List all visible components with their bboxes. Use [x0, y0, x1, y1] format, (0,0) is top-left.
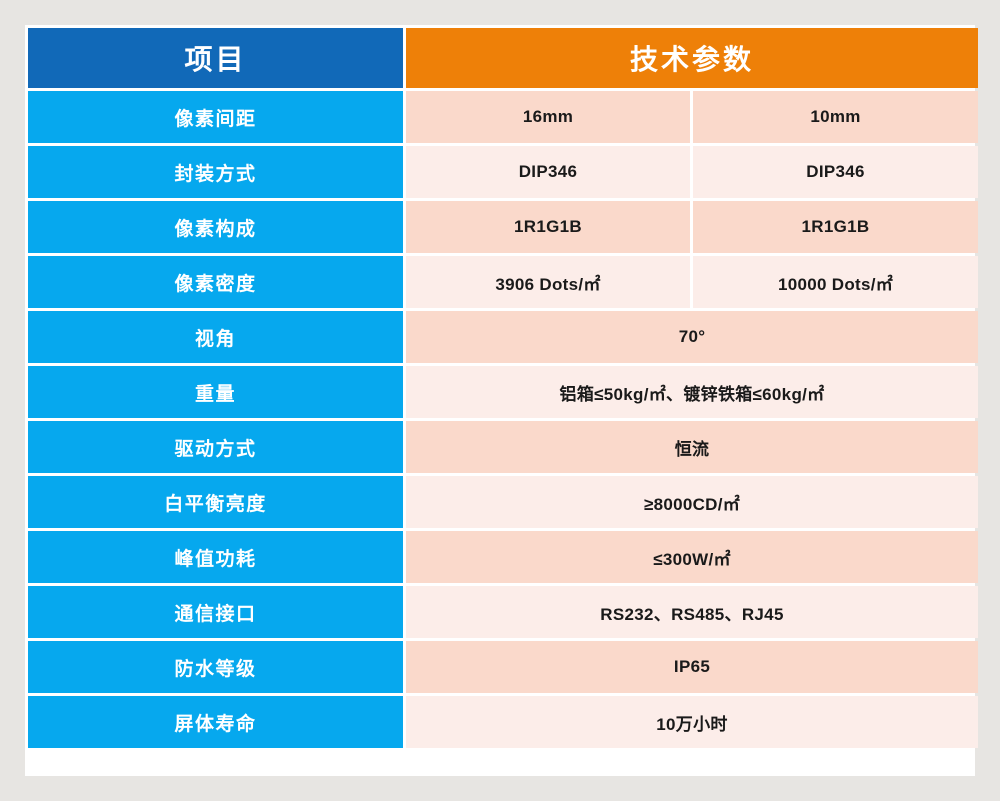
- row-label-11: 屏体寿命: [28, 696, 403, 748]
- header-cell-parameters: 技术参数: [406, 28, 978, 88]
- table-row: 防水等级IP65: [28, 641, 978, 693]
- row-value-b-2: 1R1G1B: [693, 201, 978, 253]
- row-label-5: 重量: [28, 366, 403, 418]
- row-value-b-1: DIP346: [693, 146, 978, 198]
- row-value-b-3: 10000 Dots/㎡: [693, 256, 978, 308]
- row-value-8: ≤300W/㎡: [406, 531, 978, 583]
- row-label-9: 通信接口: [28, 586, 403, 638]
- row-value-10: IP65: [406, 641, 978, 693]
- row-value-b-0: 10mm: [693, 91, 978, 143]
- row-value-a-2: 1R1G1B: [406, 201, 690, 253]
- specification-table: 项目 技术参数 像素间距16mm10mm封装方式DIP346DIP346像素构成…: [25, 25, 981, 751]
- row-value-a-1: DIP346: [406, 146, 690, 198]
- row-label-4: 视角: [28, 311, 403, 363]
- row-label-8: 峰值功耗: [28, 531, 403, 583]
- header-cell-item: 项目: [28, 28, 403, 88]
- row-value-4: 70°: [406, 311, 978, 363]
- row-label-7: 白平衡亮度: [28, 476, 403, 528]
- table-row: 封装方式DIP346DIP346: [28, 146, 978, 198]
- row-value-11: 10万小时: [406, 696, 978, 748]
- row-value-a-0: 16mm: [406, 91, 690, 143]
- table-row: 峰值功耗≤300W/㎡: [28, 531, 978, 583]
- header-row: 项目 技术参数: [28, 28, 978, 88]
- table-row: 重量铝箱≤50kg/㎡、镀锌铁箱≤60kg/㎡: [28, 366, 978, 418]
- table-row: 屏体寿命10万小时: [28, 696, 978, 748]
- row-label-6: 驱动方式: [28, 421, 403, 473]
- table-row: 驱动方式恒流: [28, 421, 978, 473]
- row-value-a-3: 3906 Dots/㎡: [406, 256, 690, 308]
- table-row: 像素构成1R1G1B1R1G1B: [28, 201, 978, 253]
- table-row: 视角70°: [28, 311, 978, 363]
- spec-table-container: 项目 技术参数 像素间距16mm10mm封装方式DIP346DIP346像素构成…: [25, 25, 975, 776]
- row-label-1: 封装方式: [28, 146, 403, 198]
- table-header: 项目 技术参数: [28, 28, 978, 88]
- row-value-9: RS232、RS485、RJ45: [406, 586, 978, 638]
- row-value-6: 恒流: [406, 421, 978, 473]
- row-label-3: 像素密度: [28, 256, 403, 308]
- row-value-7: ≥8000CD/㎡: [406, 476, 978, 528]
- row-label-2: 像素构成: [28, 201, 403, 253]
- table-row: 通信接口RS232、RS485、RJ45: [28, 586, 978, 638]
- table-body: 像素间距16mm10mm封装方式DIP346DIP346像素构成1R1G1B1R…: [28, 91, 978, 748]
- table-row: 像素密度3906 Dots/㎡10000 Dots/㎡: [28, 256, 978, 308]
- row-label-0: 像素间距: [28, 91, 403, 143]
- row-label-10: 防水等级: [28, 641, 403, 693]
- table-row: 像素间距16mm10mm: [28, 91, 978, 143]
- row-value-5: 铝箱≤50kg/㎡、镀锌铁箱≤60kg/㎡: [406, 366, 978, 418]
- table-row: 白平衡亮度≥8000CD/㎡: [28, 476, 978, 528]
